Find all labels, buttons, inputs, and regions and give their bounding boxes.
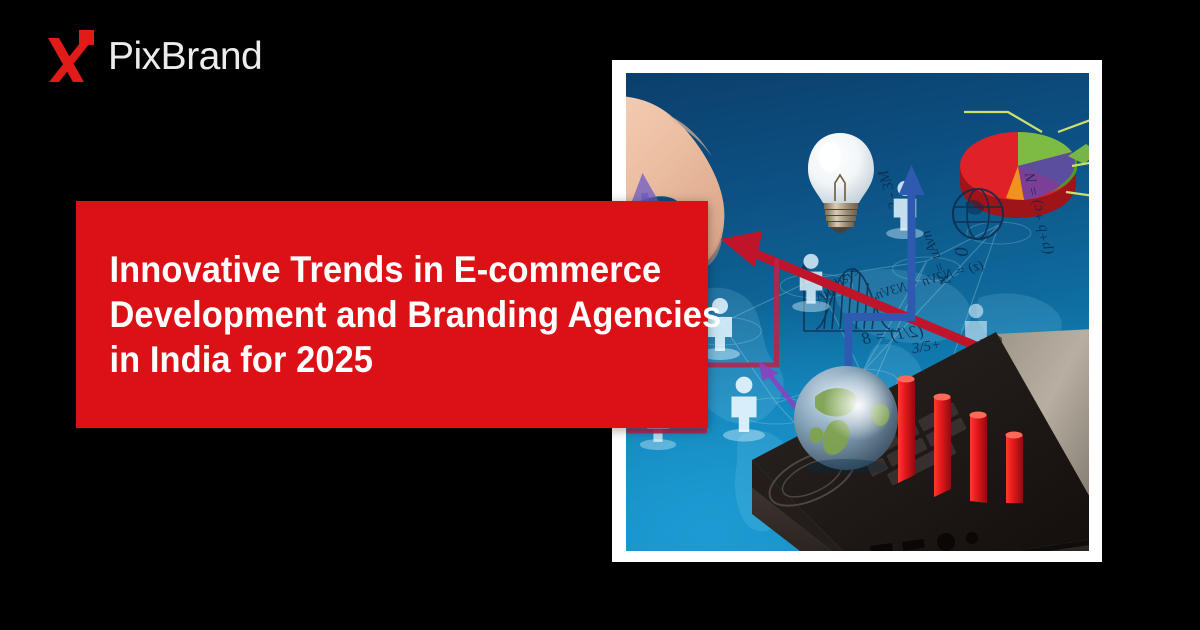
title-line-1: Innovative Trends in E-commerce [109, 247, 721, 292]
x-mark-logo-icon [48, 30, 94, 82]
red-bar-chart-icon [894, 353, 1044, 503]
earth-globe-icon [791, 363, 901, 473]
title-line-3: in India for 2025 [109, 337, 721, 382]
brand-name: PixBrand [108, 37, 262, 76]
title-banner: Innovative Trends in E-commerce Developm… [76, 201, 708, 428]
poster-canvas: PixBrand [0, 0, 1200, 630]
brand-logo[interactable]: PixBrand [48, 30, 262, 82]
page-title: Innovative Trends in E-commerce Developm… [76, 247, 753, 382]
title-line-2: Development and Branding Agencies [109, 292, 721, 337]
